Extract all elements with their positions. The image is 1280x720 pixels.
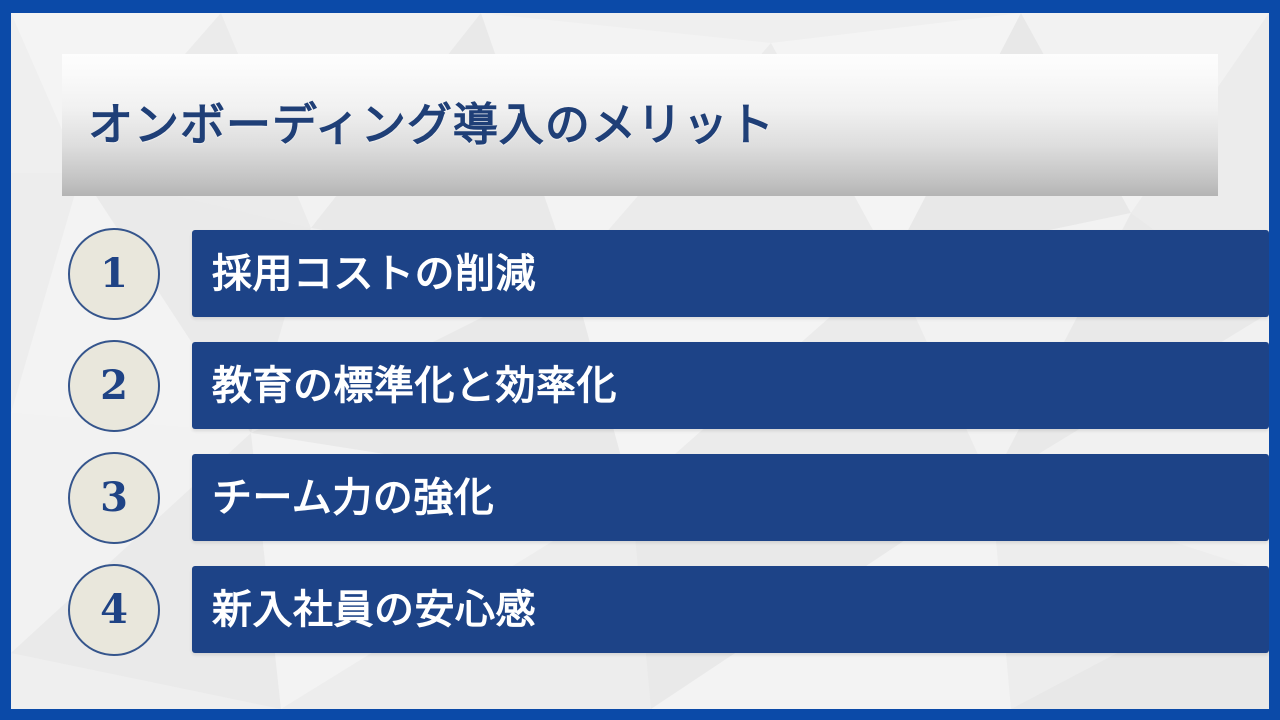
list-item-bar[interactable]: 新入社員の安心感: [192, 566, 1269, 653]
list-item-bar[interactable]: チーム力の強化: [192, 454, 1269, 541]
list-item[interactable]: 3 チーム力の強化: [11, 454, 1269, 541]
number-badge-label: 4: [100, 590, 128, 630]
list-item[interactable]: 2 教育の標準化と効率化: [11, 342, 1269, 429]
number-badge: 1: [68, 228, 160, 320]
slide-root: オンボーディング導入のメリット 1 採用コストの削減 2 教育の標準化と効率化: [0, 0, 1280, 720]
number-badge: 3: [68, 452, 160, 544]
page-title: オンボーディング導入のメリット: [88, 100, 775, 150]
number-badge-label: 1: [100, 254, 128, 294]
list-item[interactable]: 4 新入社員の安心感: [11, 566, 1269, 653]
number-badge-label: 3: [100, 478, 128, 518]
list-item-bar[interactable]: 採用コストの削減: [192, 230, 1269, 317]
list-item-label: チーム力の強化: [212, 478, 494, 518]
list-item-label: 採用コストの削減: [212, 254, 536, 294]
list-item-bar[interactable]: 教育の標準化と効率化: [192, 342, 1269, 429]
benefits-list: 1 採用コストの削減 2 教育の標準化と効率化 3 チーム力: [11, 230, 1269, 653]
list-item-label: 新入社員の安心感: [212, 590, 536, 630]
title-banner: オンボーディング導入のメリット: [62, 54, 1218, 196]
number-badge: 2: [68, 340, 160, 432]
list-item-label: 教育の標準化と効率化: [212, 366, 617, 406]
slide-canvas: オンボーディング導入のメリット 1 採用コストの削減 2 教育の標準化と効率化: [11, 13, 1269, 709]
number-badge-label: 2: [100, 366, 128, 406]
number-badge: 4: [68, 564, 160, 656]
list-item[interactable]: 1 採用コストの削減: [11, 230, 1269, 317]
